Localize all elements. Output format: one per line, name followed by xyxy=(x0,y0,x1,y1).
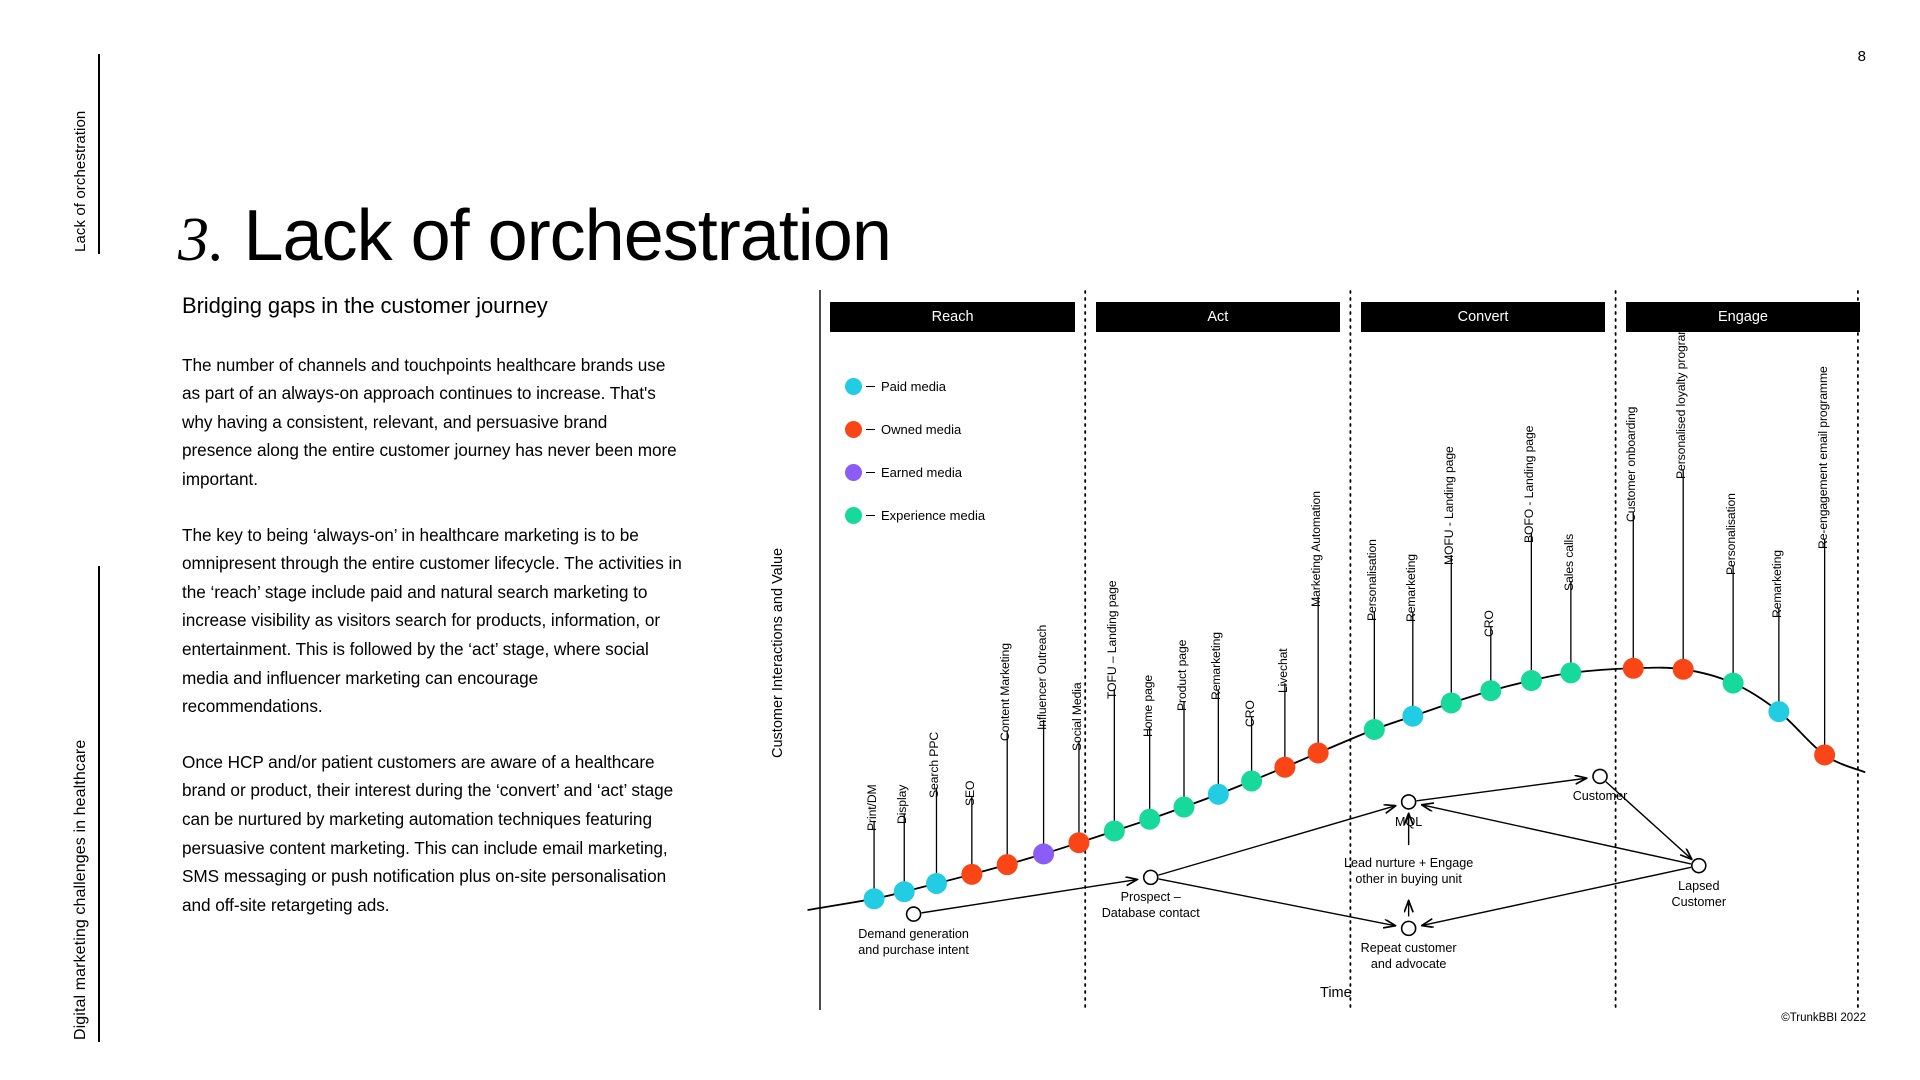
data-point-15[interactable] xyxy=(1364,719,1385,740)
point-label: Livechat xyxy=(1276,649,1290,694)
data-point-22[interactable] xyxy=(1673,659,1694,680)
rail-label-deck: Digital marketing challenges in healthca… xyxy=(72,740,90,1040)
data-point-5[interactable] xyxy=(997,854,1018,875)
data-point-19[interactable] xyxy=(1521,670,1542,691)
page-title: 3. Lack of orchestration xyxy=(178,200,891,272)
left-vertical-rail: Lack of orchestration Digital marketing … xyxy=(0,0,110,1080)
point-label: CRO xyxy=(1243,700,1257,727)
point-label: Influencer Outreach xyxy=(1035,625,1049,730)
flow-label-line: Customer xyxy=(1490,788,1710,804)
page-title-text: Lack of orchestration xyxy=(244,196,891,276)
rail-label-section: Lack of orchestration xyxy=(72,111,89,252)
point-label: Customer onboarding xyxy=(1624,407,1638,522)
flow-node-repeat[interactable] xyxy=(1402,921,1416,935)
flow-node-label-repeat: Repeat customerand advocate xyxy=(1299,940,1519,972)
data-point-25[interactable] xyxy=(1814,744,1835,765)
point-label: Remarketing xyxy=(1404,554,1418,622)
rail-divider-top xyxy=(98,54,100,254)
data-point-1[interactable] xyxy=(864,888,885,909)
point-label: Sales calls xyxy=(1562,534,1576,591)
data-point-6[interactable] xyxy=(1033,843,1054,864)
flow-node-mql[interactable] xyxy=(1402,795,1416,809)
data-point-10[interactable] xyxy=(1174,797,1195,818)
data-point-3[interactable] xyxy=(926,873,947,894)
point-label: MOFU - Landing page xyxy=(1442,446,1456,565)
data-point-23[interactable] xyxy=(1723,673,1744,694)
point-label: Display xyxy=(895,784,909,823)
point-label: Personalisation xyxy=(1724,493,1738,575)
flow-label-line: Prospect – xyxy=(1041,889,1261,905)
flow-label-line: and purchase intent xyxy=(804,942,1024,958)
flow-annotation-lead-nurture: Lead nurture + Engageother in buying uni… xyxy=(1279,855,1539,887)
point-label: Re-engagement email programme xyxy=(1816,366,1830,549)
data-point-7[interactable] xyxy=(1068,832,1089,853)
point-label: Social Media xyxy=(1070,682,1084,751)
page-number: 8 xyxy=(1858,48,1866,65)
flow-node-label-demand: Demand generationand purchase intent xyxy=(804,926,1024,958)
data-point-11[interactable] xyxy=(1208,784,1229,805)
flow-node-label-mql: MQL xyxy=(1299,814,1519,830)
data-point-24[interactable] xyxy=(1768,701,1789,722)
flow-node-customer[interactable] xyxy=(1593,769,1607,783)
copy-paragraph: Once HCP and/or patient customers are aw… xyxy=(182,748,682,920)
flow-label-line: Demand generation xyxy=(804,926,1024,942)
flow-label-line: Database contact xyxy=(1041,905,1261,921)
data-point-21[interactable] xyxy=(1623,658,1644,679)
footer-credit: ©TrunkBBI 2022 xyxy=(1781,1012,1866,1024)
data-point-9[interactable] xyxy=(1139,809,1160,830)
point-label: Personalisation xyxy=(1365,540,1379,622)
flow-label-line: Repeat customer xyxy=(1299,940,1519,956)
copy-column: Bridging gaps in the customer journey Th… xyxy=(182,292,682,919)
rail-divider-bottom xyxy=(98,566,100,1042)
point-label: Personalised loyalty program xyxy=(1674,325,1688,479)
point-label: Product page xyxy=(1175,640,1189,711)
flow-node-prospect[interactable] xyxy=(1144,870,1158,884)
point-label: TOFU – Landing page xyxy=(1105,580,1119,698)
flow-node-label-lapsed: LapsedCustomer xyxy=(1589,878,1809,910)
point-label: Print/DM xyxy=(865,784,879,831)
data-point-20[interactable] xyxy=(1560,662,1581,683)
data-point-8[interactable] xyxy=(1104,820,1125,841)
copy-paragraph: The key to being ‘always-on’ in healthca… xyxy=(182,521,682,721)
flow-label-line: MQL xyxy=(1299,814,1519,830)
data-point-13[interactable] xyxy=(1274,757,1295,778)
data-point-17[interactable] xyxy=(1441,692,1462,713)
data-point-14[interactable] xyxy=(1308,742,1329,763)
data-point-12[interactable] xyxy=(1241,770,1262,791)
point-label: Search PPC xyxy=(927,731,941,797)
data-point-2[interactable] xyxy=(894,881,915,902)
flow-label-line: Customer xyxy=(1589,894,1809,910)
x-axis-title: Time xyxy=(1320,985,1352,1001)
y-axis-title: Customer Interactions and Value xyxy=(770,548,786,758)
point-label: Content Marketing xyxy=(998,643,1012,741)
page-title-number: 3. xyxy=(178,206,225,274)
point-label: Remarketing xyxy=(1770,550,1784,618)
point-label: SEO xyxy=(963,781,977,806)
point-label: Home page xyxy=(1141,675,1155,737)
flow-node-demand[interactable] xyxy=(907,907,921,921)
point-label: Remarketing xyxy=(1209,632,1223,700)
data-point-16[interactable] xyxy=(1402,706,1423,727)
flow-label-line: other in buying unit xyxy=(1279,871,1539,887)
flow-node-label-customer: Customer xyxy=(1490,788,1710,804)
flow-label-line: Lapsed xyxy=(1589,878,1809,894)
data-point-4[interactable] xyxy=(961,864,982,885)
flow-label-line: and advocate xyxy=(1299,956,1519,972)
copy-paragraph: The number of channels and touchpoints h… xyxy=(182,351,682,494)
flow-node-lapsed[interactable] xyxy=(1692,859,1706,873)
point-label: CRO xyxy=(1482,610,1496,637)
point-label: BOFO - Landing page xyxy=(1522,425,1536,542)
point-label: Marketing Automation xyxy=(1309,491,1323,607)
flow-label-line: Lead nurture + Engage xyxy=(1279,855,1539,871)
copy-subheading: Bridging gaps in the customer journey xyxy=(182,292,682,321)
data-point-18[interactable] xyxy=(1480,680,1501,701)
flow-node-label-prospect: Prospect –Database contact xyxy=(1041,889,1261,921)
